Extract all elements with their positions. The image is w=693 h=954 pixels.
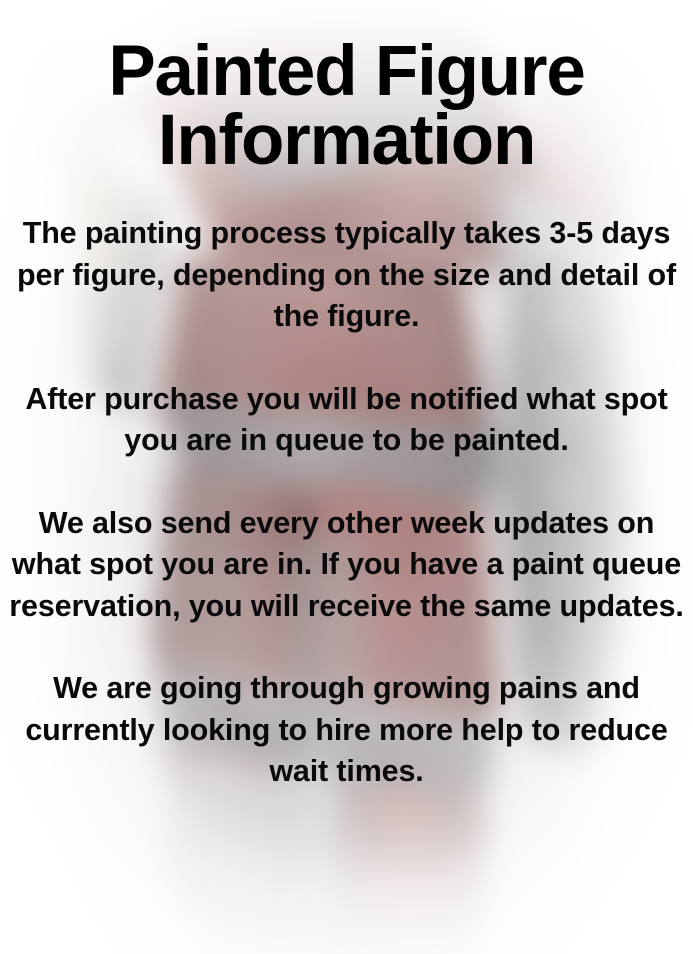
- page-title-line-2: Information: [158, 101, 535, 180]
- page-title-line-1: Painted Figure: [108, 32, 584, 111]
- poster-content: Painted Figure Information The painting …: [0, 0, 693, 954]
- info-paragraph-queue-notification: After purchase you will be notified what…: [6, 379, 687, 462]
- info-paragraph-painting-duration: The painting process typically takes 3-5…: [6, 213, 687, 338]
- info-paragraph-growing-pains: We are going through growing pains and c…: [6, 668, 687, 793]
- painted-figure-information-poster: Painted Figure Information The painting …: [0, 0, 693, 954]
- info-paragraph-biweekly-updates: We also send every other week updates on…: [6, 503, 687, 628]
- page-title: Painted Figure Information: [6, 38, 687, 175]
